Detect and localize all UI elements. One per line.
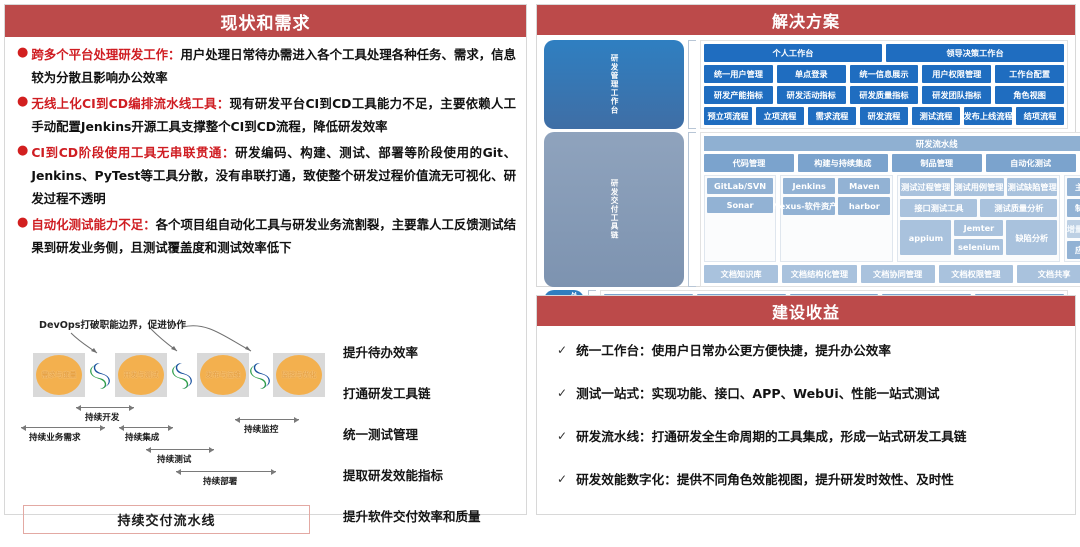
check-icon: ✓	[557, 342, 567, 359]
bullet-keyword: 自动化测试能力不足：	[31, 217, 155, 232]
check-icon: ✓	[557, 385, 567, 402]
benefit-keyword: 测试一站式：	[576, 386, 652, 401]
benefit-keyword: 研发流水线：	[576, 429, 652, 444]
devops-infinity-icon	[85, 361, 115, 391]
pipeline-stage[interactable]: 代码管理	[704, 154, 794, 172]
current-state-panel: 现状和需求 ● 跨多个平台处理研发工作：用户处理日常待办需进入各个工具处理各种任…	[4, 4, 527, 515]
tool-tile[interactable]: 测试缺陷管理	[1007, 178, 1057, 196]
benefit-item: ✓ 研发流水线：打通研发全生命周期的工具集成，形成一站式研发工具链	[557, 428, 1059, 445]
tool-tile[interactable]: 应用启停	[1067, 241, 1080, 259]
devops-stage-oval: 监控与优化	[276, 355, 322, 395]
outcome-item: 统一测试管理	[343, 424, 528, 443]
side-tab-management-workbench: 研发管理工作台	[544, 40, 684, 129]
bullet-keyword: CI到CD阶段使用工具无串联贯通：	[31, 145, 235, 160]
devops-flow-diagram: DevOps打破职能边界，促进协作 需求与度量 开发与测试	[11, 315, 329, 547]
workbench-tile[interactable]: 单点登录	[777, 65, 846, 83]
benefit-panel: 建设收益 ✓ 统一工作台：使用户日常办公更方便快捷，提升办公效率 ✓ 测试一站式…	[536, 295, 1076, 515]
devops-stage: 开发与测试	[115, 353, 167, 397]
bracket-decoration	[688, 40, 696, 129]
span-arrow	[235, 419, 299, 420]
devops-stage-label: 监控与优化	[282, 372, 317, 379]
workbench-tile[interactable]: 研发产能指标	[704, 86, 773, 104]
arch-row-workbench: 研发管理工作台 个人工作台 领导决策工作台 统一用户管理 单点登录 统一信息展示…	[544, 40, 1068, 129]
workbench-tile[interactable]: 用户权限管理	[922, 65, 991, 83]
tool-tile[interactable]: 增量自动发布	[1067, 220, 1080, 238]
workbench-tile[interactable]: 预立项流程	[704, 107, 752, 125]
workbench-row-2: 研发产能指标 研发活动指标 研发质量指标 研发团队指标 角色视图	[704, 86, 1064, 104]
outcome-item: 打通研发工具链	[343, 383, 528, 402]
pipeline-banner: 研发流水线	[704, 136, 1080, 151]
document-tile[interactable]: 文档权限管理	[939, 265, 1013, 283]
bullet-item: ● CI到CD阶段使用工具无串联贯通：研发编码、构建、测试、部署等阶段使用的Gi…	[17, 141, 516, 210]
workbench-tile[interactable]: 需求流程	[808, 107, 856, 125]
benefit-item: ✓ 统一工作台：使用户日常办公更方便快捷，提升办公效率	[557, 342, 1059, 359]
bracket-decoration	[688, 132, 696, 287]
pipeline-stage[interactable]: 制品管理	[892, 154, 982, 172]
solution-body: 研发管理工作台 个人工作台 领导决策工作台 统一用户管理 单点登录 统一信息展示…	[537, 35, 1075, 286]
workbench-tile[interactable]: 研发活动指标	[777, 86, 846, 104]
devops-stage: 监控与优化	[273, 353, 325, 397]
document-tile[interactable]: 文档协同管理	[861, 265, 935, 283]
pipeline-stage[interactable]: 自动化测试	[986, 154, 1076, 172]
tool-tile[interactable]: 缺陷分析	[1006, 220, 1057, 255]
devops-stage-label: 需求与度量	[42, 372, 77, 379]
devops-infinity-icon	[167, 361, 197, 391]
document-tile[interactable]: 文档结构化管理	[782, 265, 856, 283]
solution-panel: 解决方案 研发管理工作台 个人工作台 领导决策工作台 统一用户管	[536, 4, 1076, 287]
span-arrow	[119, 427, 173, 428]
devops-stage-oval: 需求与度量	[36, 355, 82, 395]
benefit-title: 建设收益	[537, 296, 1075, 326]
workbench-row-3: 预立项流程 立项流程 需求流程 研发流程 测试流程 发布上线流程 结项流程	[704, 107, 1064, 125]
tool-tile[interactable]: 制品下载	[1067, 199, 1080, 217]
tool-column-build: Jenkins Maven Nexus-软件资产库 harbor	[780, 175, 893, 262]
span-arrow	[176, 471, 276, 472]
devops-stage-label: 开发与测试	[124, 372, 159, 379]
pipeline-stage[interactable]: 构建与持续集成	[798, 154, 888, 172]
span-label: 持续集成	[125, 431, 159, 443]
tools-grid: GitLab/SVN Sonar Jenkins Maven Nexus-软件资…	[704, 175, 1080, 262]
benefit-body: ✓ 统一工作台：使用户日常办公更方便快捷，提升办公效率 ✓ 测试一站式：实现功能…	[537, 326, 1075, 488]
side-tab-label: 研发管理工作台	[604, 54, 624, 114]
current-state-title: 现状和需求	[5, 5, 526, 37]
workbench-tile[interactable]: 测试流程	[912, 107, 960, 125]
workbench-tile[interactable]: 统一用户管理	[704, 65, 773, 83]
outcome-item: 提升待办效率	[343, 342, 528, 361]
solution-title: 解决方案	[537, 5, 1075, 35]
toolchain-group: 研发流水线 代码管理 构建与持续集成 制品管理 自动化测试 发布管理 GitLa…	[700, 132, 1080, 287]
arch-row-toolchain: 研发交付工具链 研发流水线 代码管理 构建与持续集成 制品管理 自动化测试 发布…	[544, 132, 1068, 287]
tool-tile[interactable]: 测试用例管理	[954, 178, 1004, 196]
tool-tile[interactable]: harbor	[838, 197, 890, 215]
benefit-detail: 打通研发全生命周期的工具集成，形成一站式研发工具链	[652, 429, 967, 444]
tool-tile[interactable]: 主机管理	[1067, 178, 1080, 196]
workbench-tile[interactable]: 角色视图	[995, 86, 1064, 104]
side-tab-label: 研发交付工具链	[604, 179, 624, 239]
span-arrow	[146, 449, 214, 450]
workbench-tile[interactable]: 研发质量指标	[850, 86, 919, 104]
span-label: 持续测试	[157, 453, 191, 465]
workbench-tile[interactable]: 领导决策工作台	[886, 44, 1064, 62]
workbench-tile[interactable]: 结项流程	[1016, 107, 1064, 125]
bullet-item: ● 无线上化CI到CD编排流水线工具：现有研发平台CI到CD工具能力不足，主要依…	[17, 92, 516, 138]
outcome-item: 提取研发效能指标	[343, 465, 528, 484]
tool-tile[interactable]: GitLab/SVN	[707, 178, 773, 194]
outcome-list: 提升待办效率 打通研发工具链 统一测试管理 提取研发效能指标 提升软件交付效率和…	[343, 342, 528, 547]
bullet-keyword: 无线上化CI到CD编排流水线工具：	[31, 96, 229, 111]
devops-stage: 发布与运维	[197, 353, 249, 397]
bullet-item: ● 跨多个平台处理研发工作：用户处理日常待办需进入各个工具处理各种任务、需求，信…	[17, 43, 516, 89]
document-tile[interactable]: 文档共享	[1017, 265, 1080, 283]
pipeline-stage-row: 代码管理 构建与持续集成 制品管理 自动化测试 发布管理	[704, 154, 1080, 172]
span-label: 持续开发	[85, 411, 119, 423]
benefit-item: ✓ 研发效能数字化：提供不同角色效能视图，提升研发时效性、及时性	[557, 471, 1059, 488]
workbench-row-1: 统一用户管理 单点登录 统一信息展示 用户权限管理 工作台配置	[704, 65, 1064, 83]
span-arrow	[21, 427, 105, 428]
bullet-dot-icon: ●	[17, 92, 28, 112]
document-tile[interactable]: 文档知识库	[704, 265, 778, 283]
bullet-dot-icon: ●	[17, 213, 28, 233]
tool-column-test: 测试过程管理 测试用例管理 测试缺陷管理 接口测试工具 测试质量分析 appiu…	[897, 175, 1060, 262]
current-state-body: ● 跨多个平台处理研发工作：用户处理日常待办需进入各个工具处理各种任务、需求，信…	[5, 37, 526, 259]
devops-stage-oval: 开发与测试	[118, 355, 164, 395]
benefit-detail: 使用户日常办公更方便快捷，提升办公效率	[652, 343, 891, 358]
tool-tile[interactable]: appium	[900, 220, 951, 255]
continuous-delivery-pipeline-label: 持续交付流水线	[117, 510, 215, 529]
devops-stage-label: 发布与运维	[206, 372, 241, 379]
bullet-keyword: 跨多个平台处理研发工作：	[31, 47, 180, 62]
workbench-tile[interactable]: 工作台配置	[995, 65, 1064, 83]
span-label: 持续业务需求	[29, 431, 81, 443]
slide-canvas: 现状和需求 ● 跨多个平台处理研发工作：用户处理日常待办需进入各个工具处理各种任…	[0, 0, 1080, 519]
workbench-tile[interactable]: 个人工作台	[704, 44, 882, 62]
tool-tile[interactable]: Jenkins	[783, 178, 835, 194]
bullet-dot-icon: ●	[17, 141, 28, 161]
benefit-keyword: 研发效能数字化：	[576, 472, 677, 487]
devops-stage-oval: 发布与运维	[200, 355, 246, 395]
side-tab-delivery-toolchain: 研发交付工具链	[544, 132, 684, 287]
workbench-tile[interactable]: 立项流程	[756, 107, 804, 125]
check-icon: ✓	[557, 471, 567, 488]
devops-stage: 需求与度量	[33, 353, 85, 397]
tool-tile[interactable]: Maven	[838, 178, 890, 194]
workbench-tile[interactable]: 研发流程	[860, 107, 908, 125]
bullet-dot-icon: ●	[17, 43, 28, 63]
benefit-keyword: 统一工作台：	[576, 343, 652, 358]
tool-tile[interactable]: Jemter	[954, 220, 1003, 236]
workbench-tile[interactable]: 统一信息展示	[850, 65, 919, 83]
span-label: 持续部署	[203, 475, 237, 487]
check-icon: ✓	[557, 428, 567, 445]
tool-tile[interactable]: 测试质量分析	[980, 199, 1057, 217]
tool-tile[interactable]: 测试过程管理	[900, 178, 950, 196]
workbench-top-row: 个人工作台 领导决策工作台	[704, 44, 1064, 62]
workbench-group: 个人工作台 领导决策工作台 统一用户管理 单点登录 统一信息展示 用户权限管理 …	[700, 40, 1068, 129]
tool-column-release: 主机管理 应用管理 制品下载 应用备份 增量自动发布 全量自动发布	[1064, 175, 1080, 262]
outcome-item: 提升软件交付效率和质量	[343, 506, 528, 525]
benefit-detail: 提供不同角色效能视图，提升研发时效性、及时性	[677, 472, 954, 487]
bullet-item: ● 自动化测试能力不足：各个项目组自动化工具与研发业务流割裂，主要靠人工反馈测试…	[17, 213, 516, 259]
workbench-tile[interactable]: 发布上线流程	[964, 107, 1012, 125]
architecture-diagram: 研发管理工作台 个人工作台 领导决策工作台 统一用户管理 单点登录 统一信息展示…	[544, 40, 1068, 282]
benefit-detail: 实现功能、接口、APP、WebUi、性能一站式测试	[652, 386, 940, 401]
continuous-delivery-pipeline-box: 持续交付流水线	[23, 505, 310, 534]
benefit-item: ✓ 测试一站式：实现功能、接口、APP、WebUi、性能一站式测试	[557, 385, 1059, 402]
tool-tile[interactable]: Sonar	[707, 197, 773, 213]
tool-column-code: GitLab/SVN Sonar	[704, 175, 776, 262]
tool-tile[interactable]: selenium	[954, 239, 1003, 255]
document-row: 文档知识库 文档结构化管理 文档协同管理 文档权限管理 文档共享 外协管理	[704, 265, 1080, 283]
devops-infinity-icon	[245, 361, 275, 391]
span-arrow	[76, 407, 134, 408]
span-label: 持续监控	[244, 423, 278, 435]
workbench-tile[interactable]: 研发团队指标	[922, 86, 991, 104]
tool-tile[interactable]: 接口测试工具	[900, 199, 977, 217]
tool-tile[interactable]: Nexus-软件资产库	[783, 197, 835, 215]
